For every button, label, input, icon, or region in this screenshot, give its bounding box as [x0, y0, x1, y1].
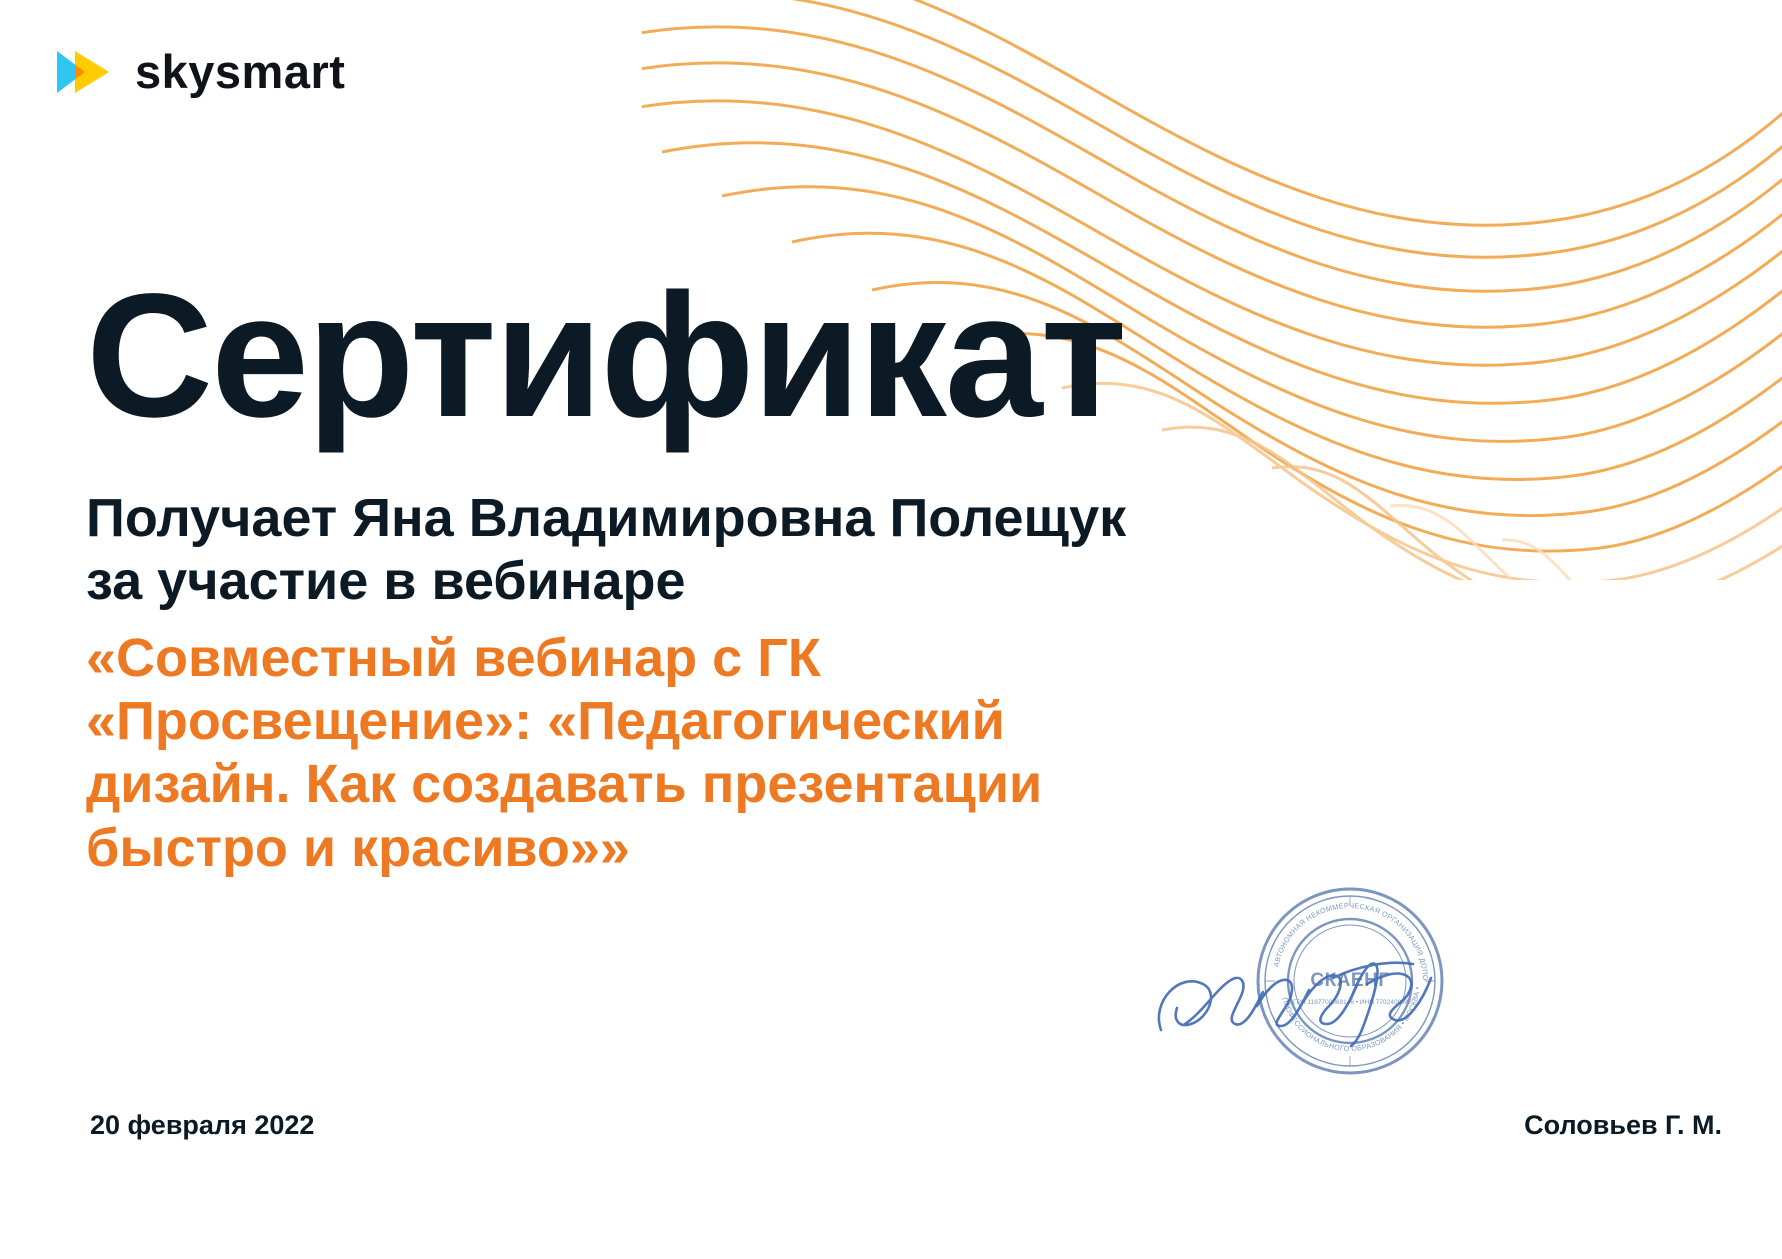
double-play-triangle-icon — [57, 49, 113, 95]
recipient-line: за участие в вебинаре — [86, 550, 1226, 613]
signer-name: Соловьев Г. М. — [1524, 1110, 1722, 1141]
svg-text:ПРОФЕССИОНАЛЬНОГО ОБРАЗОВАНИЯ: ПРОФЕССИОНАЛЬНОГО ОБРАЗОВАНИЯ • МОСКВА • — [1280, 986, 1422, 1053]
svg-text:АВТОНОМНАЯ НЕКОММЕРЧЕСКАЯ ОРГА: АВТОНОМНАЯ НЕКОММЕРЧЕСКАЯ ОРГАНИЗАЦИЯ ДО… — [1252, 880, 1430, 981]
webinar-title-line: «Совместный вебинар с ГК — [86, 627, 1246, 690]
round-official-stamp-icon: АВТОНОМНАЯ НЕКОММЕРЧЕСКАЯ ОРГАНИЗАЦИЯ ДО… — [1252, 880, 1442, 1073]
handwritten-signature-icon — [1159, 963, 1431, 1046]
recipient-block: Получает Яна Владимировна Полещук за уча… — [86, 487, 1226, 612]
page-title: Сертификат — [86, 268, 1125, 444]
skysmart-wordmark: skysmart — [135, 48, 345, 95]
skysmart-logo: skysmart — [57, 48, 345, 95]
certificate-page: skysmart Сертификат Получает Яна Владими… — [0, 0, 1782, 1259]
svg-text:СКАЕНГ: СКАЕНГ — [1310, 970, 1389, 991]
stamp-and-signature: АВТОНОМНАЯ НЕКОММЕРЧЕСКАЯ ОРГАНИЗАЦИЯ ДО… — [1145, 880, 1535, 1130]
webinar-title-line: «Просвещение»: «Педагогический — [86, 690, 1246, 753]
webinar-title-line: быстро и красиво»» — [86, 817, 1246, 880]
webinar-title-block: «Совместный вебинар с ГК «Просвещение»: … — [86, 627, 1246, 880]
issue-date: 20 февраля 2022 — [90, 1110, 314, 1141]
recipient-line: Получает Яна Владимировна Полещук — [86, 487, 1226, 550]
webinar-title-line: дизайн. Как создавать презентации — [86, 753, 1246, 816]
svg-text:ОГРН 1167700069146 • ИНН 77024: ОГРН 1167700069146 • ИНН 7702409947 — [1288, 999, 1412, 1006]
